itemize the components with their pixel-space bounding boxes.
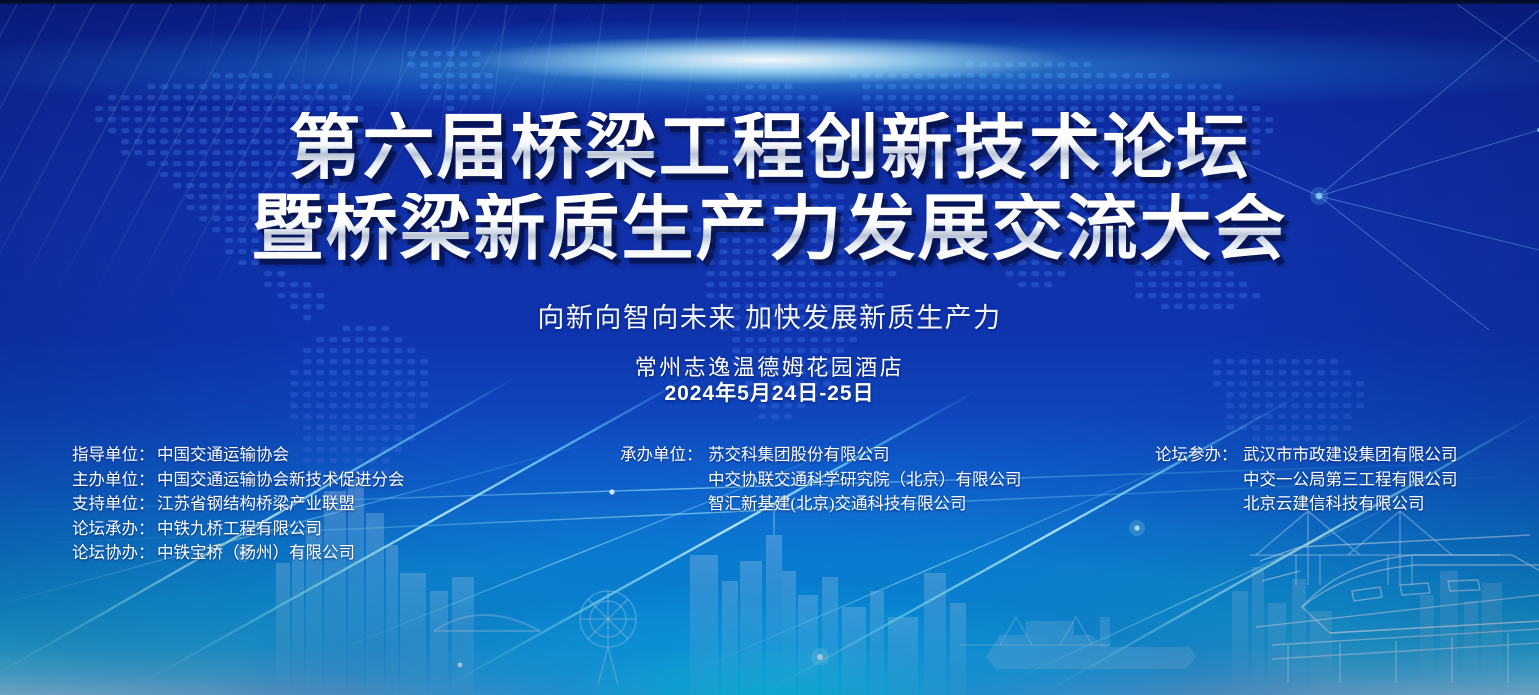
org-label [620,492,708,517]
org-label: 支持单位： [72,492,157,517]
org-row: 论坛协办：中铁宝桥（扬州）有限公司 [72,541,405,566]
banner-content: 第六届桥梁工程创新技术论坛 暨桥梁新质生产力发展交流大会 向新向智向未来 加快发… [0,0,1539,695]
org-label: 论坛参办： [1155,443,1243,468]
org-row: 支持单位：江苏省钢结构桥梁产业联盟 [72,492,405,517]
org-label [1155,492,1243,517]
top-edge-strip [0,0,1539,5]
organizations-block: 指导单位：中国交通运输协会主办单位：中国交通运输协会新技术促进分会支持单位：江苏… [0,443,1539,563]
org-row: 中交协联交通科学研究院（北京）有限公司 [620,468,1022,493]
org-value: 智汇新基建(北京)交通科技有限公司 [708,492,967,517]
org-value: 中铁宝桥（扬州）有限公司 [157,541,355,566]
main-title-line-1: 第六届桥梁工程创新技术论坛 [0,112,1539,185]
org-label: 论坛协办： [72,541,157,566]
org-value: 中铁九桥工程有限公司 [157,517,322,542]
slogan-text: 向新向智向未来 加快发展新质生产力 [0,296,1539,335]
org-value: 北京云建信科技有限公司 [1243,492,1425,517]
org-value: 中交一公局第三工程有限公司 [1243,468,1458,493]
org-row: 智汇新基建(北京)交通科技有限公司 [620,492,1022,517]
org-label: 指导单位： [72,443,157,468]
org-label: 承办单位： [620,443,708,468]
org-row: 北京云建信科技有限公司 [1155,492,1458,517]
main-title-line-2: 暨桥梁新质生产力发展交流大会 [0,193,1539,266]
title-block: 第六届桥梁工程创新技术论坛 暨桥梁新质生产力发展交流大会 [0,112,1539,267]
org-row: 论坛承办：中铁九桥工程有限公司 [72,517,405,542]
org-value: 江苏省钢结构桥梁产业联盟 [157,492,355,517]
org-column-right: 论坛参办：武汉市市政建设集团有限公司中交一公局第三工程有限公司北京云建信科技有限… [1155,443,1458,517]
org-column-left: 指导单位：中国交通运输协会主办单位：中国交通运输协会新技术促进分会支持单位：江苏… [72,443,405,566]
org-row: 论坛参办：武汉市市政建设集团有限公司 [1155,443,1458,468]
org-value: 苏交科集团股份有限公司 [708,443,890,468]
org-value: 武汉市市政建设集团有限公司 [1243,443,1458,468]
org-label: 主办单位： [72,468,157,493]
org-row: 指导单位：中国交通运输协会 [72,443,405,468]
org-label [1155,468,1243,493]
org-row: 中交一公局第三工程有限公司 [1155,468,1458,493]
org-value: 中国交通运输协会新技术促进分会 [157,468,405,493]
org-label: 论坛承办： [72,517,157,542]
org-row: 承办单位：苏交科集团股份有限公司 [620,443,1022,468]
conference-banner: 第六届桥梁工程创新技术论坛 暨桥梁新质生产力发展交流大会 向新向智向未来 加快发… [0,0,1539,695]
org-column-middle: 承办单位：苏交科集团股份有限公司中交协联交通科学研究院（北京）有限公司智汇新基建… [620,443,1022,517]
org-row: 主办单位：中国交通运输协会新技术促进分会 [72,468,405,493]
org-label [620,468,708,493]
org-value: 中交协联交通科学研究院（北京）有限公司 [708,468,1022,493]
date-text: 2024年5月24日-25日 [0,377,1539,407]
org-value: 中国交通运输协会 [157,443,289,468]
